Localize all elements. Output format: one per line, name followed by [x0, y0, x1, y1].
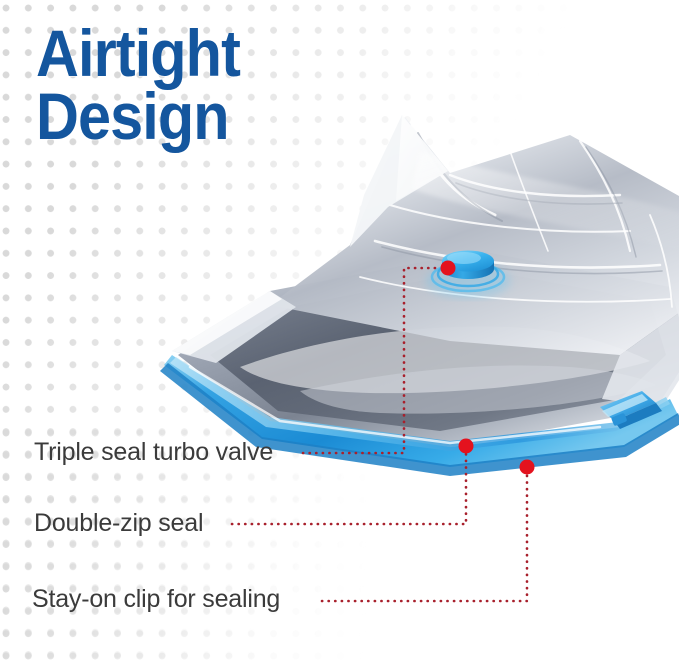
callout-dot-valve — [441, 261, 456, 276]
callout-label-triple-seal-turbo-valve: Triple seal turbo valve — [34, 438, 273, 467]
callout-label-stay-on-clip-for-sealing: Stay-on clip for sealing — [32, 585, 280, 614]
callout-leader-lines — [0, 0, 679, 663]
leader-line-valve — [303, 268, 441, 453]
product-feature-graphic: AirtightDesign — [0, 0, 679, 663]
callout-label-double-zip-seal: Double-zip seal — [34, 509, 203, 538]
leader-line-clip — [322, 473, 527, 601]
callout-dot-clip — [520, 460, 535, 475]
callout-dot-zip — [459, 439, 474, 454]
